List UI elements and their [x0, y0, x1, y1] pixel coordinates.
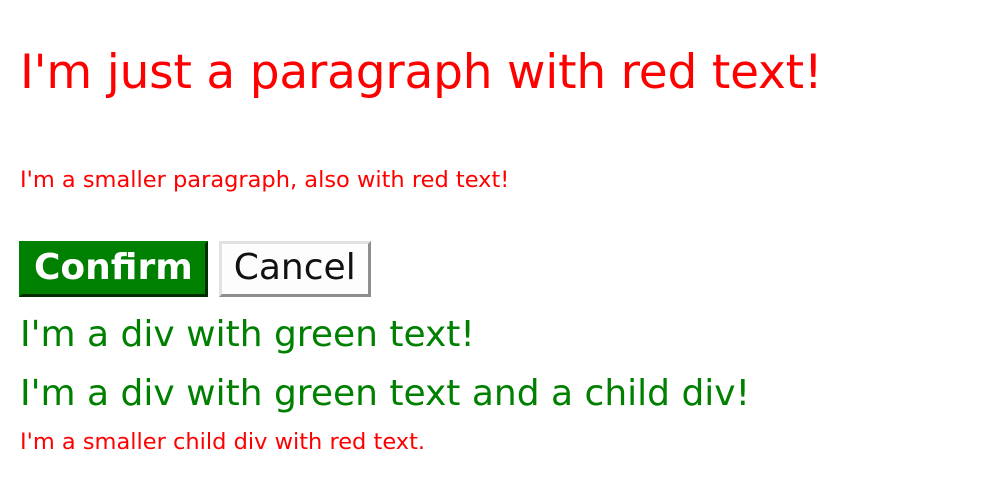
green-div-with-child: I'm a div with green text and a child di… [20, 374, 750, 414]
confirm-button[interactable]: Confirm [19, 241, 208, 297]
child-div-red-text: I'm a smaller child div with red text. [20, 430, 425, 456]
cancel-button[interactable]: Cancel [219, 241, 371, 297]
button-row: Confirm Cancel [19, 241, 371, 297]
paragraph-red-small: I'm a smaller paragraph, also with red t… [20, 168, 509, 194]
page-root: I'm just a paragraph with red text! I'm … [0, 0, 985, 498]
paragraph-red-large: I'm just a paragraph with red text! [20, 47, 822, 100]
green-div-text: I'm a div with green text! [20, 315, 475, 355]
